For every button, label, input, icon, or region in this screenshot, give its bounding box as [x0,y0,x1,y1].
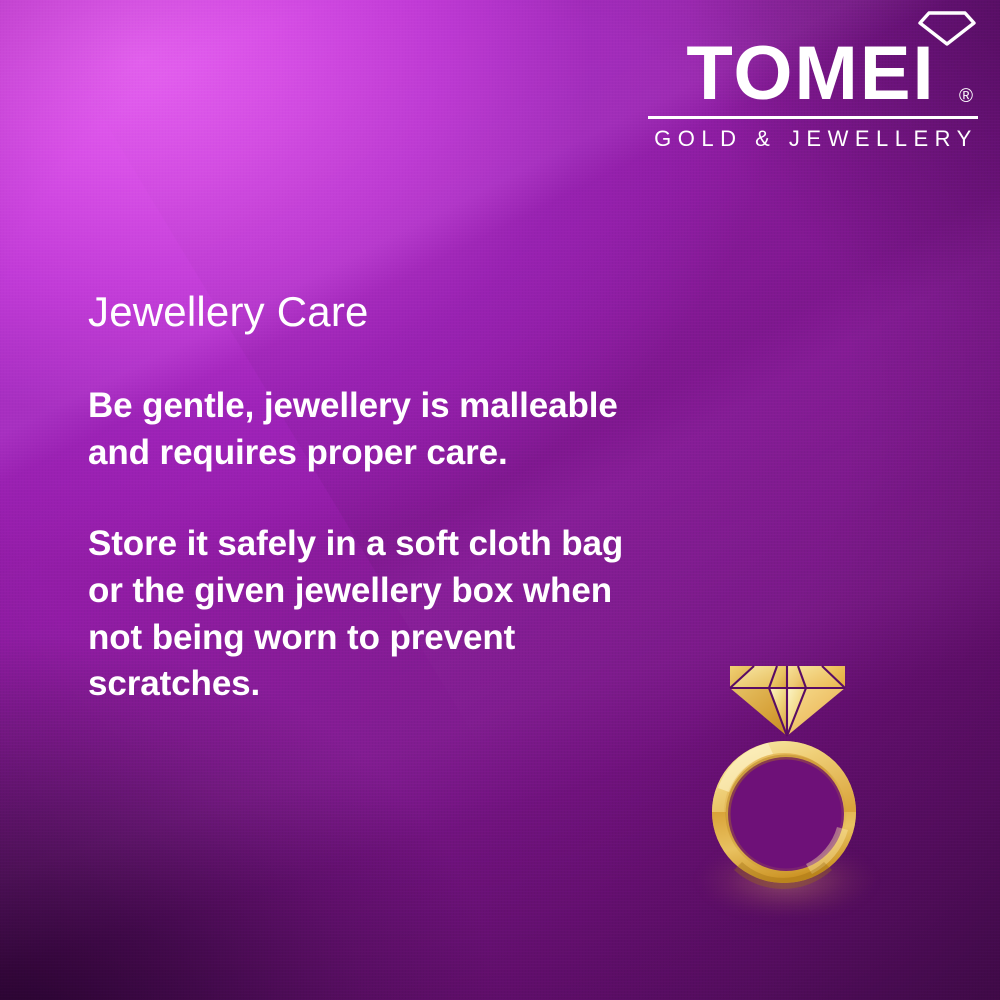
logo-wordmark: TOMEI ® [648,36,978,112]
body-paragraph-1: Be gentle, jewellery is malleable and re… [88,383,628,477]
brand-logo: TOMEI ® GOLD & JEWELLERY [648,8,978,152]
logo-divider-rule [648,116,978,119]
diamond-ring-illustration [672,612,902,942]
logo-wordmark-text: TOMEI [686,31,935,116]
ring-vector [672,612,902,942]
page-title: Jewellery Care [88,288,648,335]
body-paragraph-2: Store it safely in a soft cloth bag or t… [88,521,628,709]
logo-tagline: GOLD & JEWELLERY [648,126,978,152]
diamond-gem-icon [730,666,845,736]
registered-trademark-icon: ® [959,87,975,106]
copy-block: Jewellery Care Be gentle, jewellery is m… [88,288,648,708]
poster-canvas: TOMEI ® GOLD & JEWELLERY Jewellery Care … [0,0,1000,1000]
ring-band-icon [712,741,856,889]
